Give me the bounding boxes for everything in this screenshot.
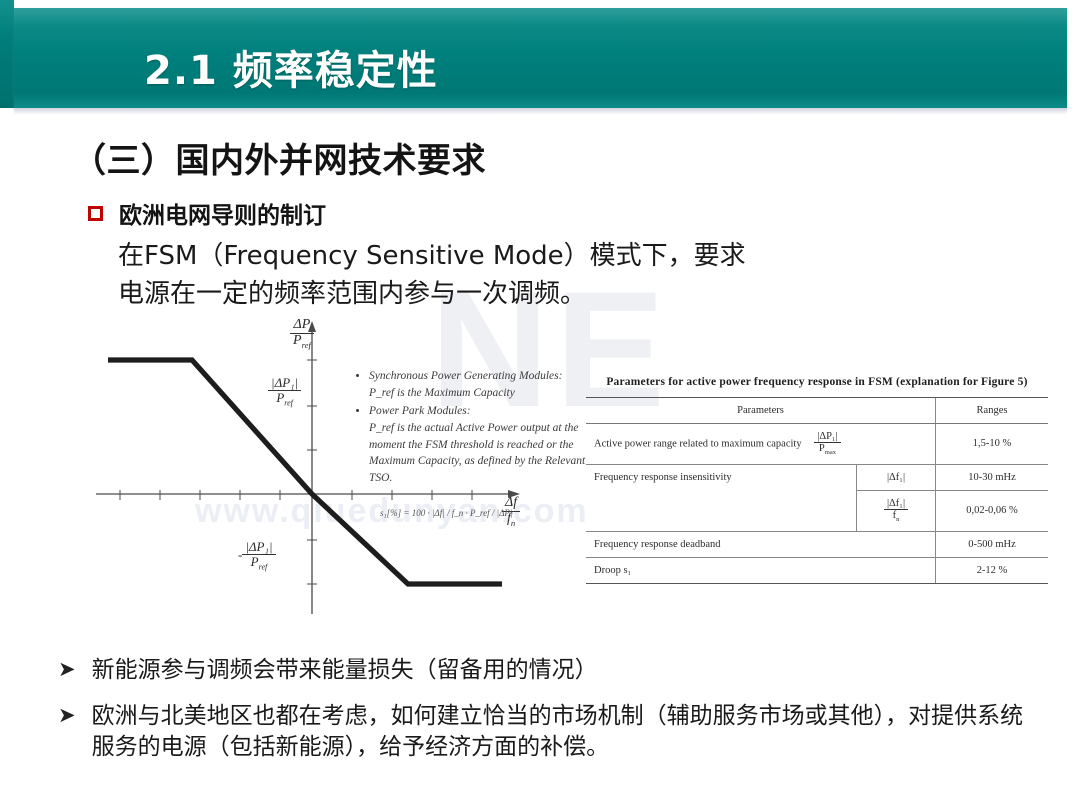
legend-item-detail: P_ref is the Maximum Capacity [369, 387, 515, 399]
cell-parameter: Droop s₁ [586, 557, 936, 583]
y-axis-top-den: P [293, 333, 302, 348]
list-item-label: 新能源参与调频会带来能量损失（留备用的情况） [92, 655, 598, 687]
left-accent-stripe [0, 0, 14, 108]
body-paragraph: 在FSM（Frequency Sensitive Mode）模式下，要求电源在一… [118, 238, 758, 313]
cell-range: 2-12 % [936, 557, 1049, 583]
y-axis-top-label: ΔPPref [290, 318, 314, 350]
list-item: ➤ 新能源参与调频会带来能量损失（留备用的情况） [58, 655, 1038, 687]
slide-canvas: NE www.qiuedunyan.com 2.1 频率稳定性 （三）国内外并网… [0, 0, 1080, 810]
section-heading: （三）国内外并网技术要求 [72, 133, 486, 182]
cell-symbol-den-sub: max [825, 449, 836, 456]
droop-formula-label: s₁[%] = 100 · |Δf| / f_n · P_ref / |ΔP| [380, 508, 512, 518]
page-title: 2.1 频率稳定性 [144, 38, 438, 96]
legend-item-title: Synchronous Power Generating Modules: [369, 370, 562, 382]
cell-parameter-text: Active power range related to maximum ca… [594, 438, 802, 449]
cell-parameter: Frequency response deadband [586, 531, 936, 557]
x-axis-den-sub: n [511, 517, 515, 527]
y-axis-top-num: ΔP [290, 318, 314, 334]
legend-item: Power Park Modules: P_ref is the actual … [369, 403, 605, 486]
cell-range: 10-30 mHz [936, 464, 1049, 490]
list-item-label: 欧洲与北美地区也都在考虑，如何建立恰当的市场机制（辅助服务市场或其他），对提供系… [92, 701, 1038, 764]
cell-symbol-den-sub: n [896, 516, 899, 523]
sub-heading-label: 欧洲电网导则的制订 [119, 196, 326, 230]
legend-item-detail: P_ref is the actual Active Power output … [369, 422, 585, 484]
fsm-droop-figure: ΔPPref |ΔP₁|Pref -|ΔP₁|Pref Δffn s₁[%] =… [90, 318, 610, 618]
column-header-parameters: Parameters [586, 398, 936, 424]
y-axis-neg-num: |ΔP₁| [242, 540, 275, 555]
y-axis-neg-den: P [251, 554, 259, 569]
table-header-row: Parameters Ranges [586, 398, 1048, 424]
column-header-ranges: Ranges [936, 398, 1049, 424]
figure-legend: Synchronous Power Generating Modules: P_… [355, 368, 605, 489]
y-axis-pos-den-sub: ref [284, 398, 293, 407]
arrow-bullet-icon: ➤ [58, 655, 76, 683]
y-axis-pos-num: |ΔP₁| [268, 376, 301, 391]
cell-range: 1,5-10 % [936, 424, 1049, 465]
fsm-parameters-table-block: Parameters for active power frequency re… [586, 376, 1048, 584]
cell-symbol-num: |ΔP₁| [814, 431, 840, 443]
cell-symbol-num: |Δf₁| [884, 498, 908, 510]
sub-heading-row: 欧洲电网导则的制订 [88, 196, 326, 230]
cell-range: 0-500 mHz [936, 531, 1049, 557]
legend-item: Synchronous Power Generating Modules: P_… [369, 368, 605, 401]
y-axis-negative-label: -|ΔP₁|Pref [238, 540, 276, 572]
bottom-bullet-list: ➤ 新能源参与调频会带来能量损失（留备用的情况） ➤ 欧洲与北美地区也都在考虑，… [58, 655, 1038, 778]
table-row: Active power range related to maximum ca… [586, 424, 1048, 465]
cell-symbol: |ΔP₁| Pmax [814, 431, 840, 457]
arrow-bullet-icon: ➤ [58, 701, 76, 729]
y-axis-positive-label: |ΔP₁|Pref [268, 376, 301, 408]
cell-parameter: Active power range related to maximum ca… [586, 424, 936, 465]
cell-parameter: Frequency response insensitivity [586, 464, 857, 490]
table-row: Frequency response deadband 0-500 mHz [586, 531, 1048, 557]
list-item: ➤ 欧洲与北美地区也都在考虑，如何建立恰当的市场机制（辅助服务市场或其他），对提… [58, 701, 1038, 764]
table-caption: Parameters for active power frequency re… [586, 376, 1048, 388]
square-bullet-icon [88, 206, 103, 221]
cell-range: 0,02-0,06 % [936, 490, 1049, 531]
table-row: Droop s₁ 2-12 % [586, 557, 1048, 583]
y-axis-neg-den-sub: ref [259, 562, 268, 571]
cell-symbol-num: |Δf₁| [887, 472, 905, 483]
table-row: Frequency response insensitivity |Δf₁| 1… [586, 464, 1048, 490]
legend-item-title: Power Park Modules: [369, 405, 471, 417]
cell-symbol: |Δf₁| fn [857, 490, 936, 531]
slide-header-band: 2.1 频率稳定性 [14, 8, 1067, 108]
table-row: |Δf₁| fn 0,02-0,06 % [586, 490, 1048, 531]
cell-symbol: |Δf₁| [857, 464, 936, 490]
y-axis-top-den-sub: ref [302, 339, 311, 349]
fsm-parameters-table: Parameters Ranges Active power range rel… [586, 397, 1048, 584]
cell-parameter [586, 490, 857, 531]
